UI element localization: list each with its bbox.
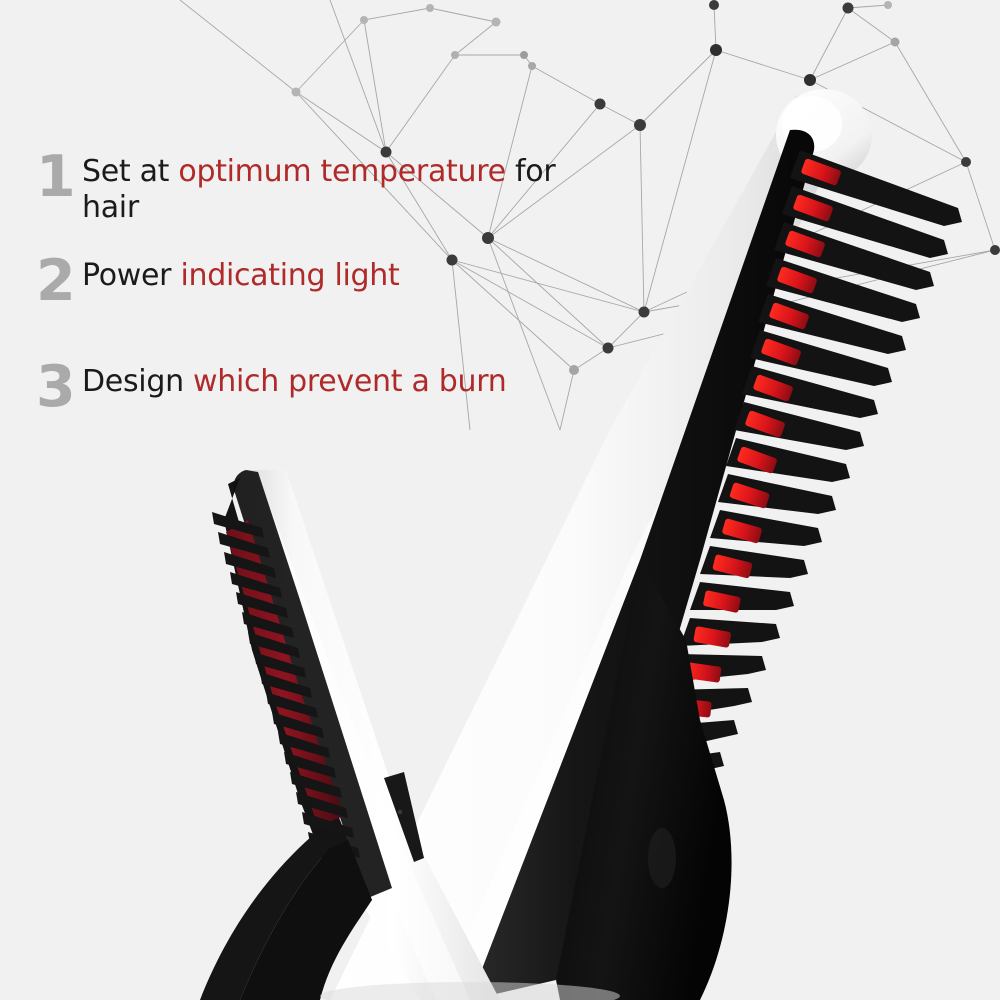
comb-tooth <box>626 784 710 826</box>
feature-text-1: Set at optimum temperature for hair <box>82 150 576 226</box>
feature-number-1: 1 <box>36 150 82 204</box>
comb-tooth <box>690 582 794 610</box>
lower-arm-white-body <box>234 470 500 1000</box>
feature-text-3: Design which prevent a burn <box>82 360 506 400</box>
comb-tooth <box>660 688 752 718</box>
lower-comb-red-heating-strip <box>226 520 344 826</box>
comb-tooth-heater <box>753 374 794 402</box>
comb-tooth-heater <box>761 338 802 366</box>
lower-comb-teeth-group <box>212 512 360 858</box>
feature-item-3: 3 Design which prevent a burn <box>36 360 576 414</box>
comb-tooth-heater <box>722 518 763 544</box>
comb-tooth <box>638 752 724 790</box>
comb-tooth <box>774 222 934 290</box>
comb-tooth <box>224 552 276 578</box>
feature-2-highlight: indicating light <box>180 258 399 293</box>
comb-tooth <box>782 186 948 258</box>
comb-tooth-heater <box>684 662 722 683</box>
comb-tooth <box>718 474 836 514</box>
comb-tooth <box>750 330 892 386</box>
comb-tooth-heater <box>777 266 818 294</box>
comb-tooth <box>766 258 920 322</box>
feature-text-2: Power indicating light <box>82 254 399 294</box>
infographic-canvas: 1 Set at optimum temperature for hair 2 … <box>0 0 1000 1000</box>
comb-tooth <box>290 772 342 798</box>
lower-comb-black-plate <box>224 470 392 922</box>
comb-tooth-heater <box>665 734 700 752</box>
comb-tooth <box>278 732 330 758</box>
comb-tooth <box>236 592 288 618</box>
comb-tooth <box>248 632 300 658</box>
comb-tooth-heater <box>729 482 770 509</box>
comb-tooth <box>670 654 766 682</box>
upper-comb-teeth-group <box>614 150 962 862</box>
comb-tooth-heater <box>785 230 826 258</box>
product-shadow <box>320 982 620 1000</box>
rounded-white-tip <box>776 89 872 181</box>
comb-tooth <box>650 720 738 754</box>
feature-2-plain-prefix: Power <box>82 258 180 293</box>
comb-tooth <box>614 816 696 862</box>
comb-tooth <box>790 150 962 226</box>
comb-tooth-heater <box>693 626 731 648</box>
comb-tooth-heater <box>703 590 742 613</box>
comb-tooth <box>272 712 324 738</box>
feature-item-2: 2 Power indicating light <box>36 254 576 308</box>
comb-tooth <box>212 512 264 538</box>
feature-1-highlight: optimum temperature <box>178 154 505 189</box>
comb-tooth <box>734 402 864 450</box>
comb-tooth <box>260 672 312 698</box>
comb-tooth <box>254 652 306 678</box>
feature-item-1: 1 Set at optimum temperature for hair <box>36 150 576 226</box>
comb-tooth <box>308 832 360 858</box>
comb-tooth-heater <box>653 770 686 786</box>
comb-tooth-heater <box>793 194 834 222</box>
comb-tooth <box>742 366 878 418</box>
comb-tooth <box>710 510 822 546</box>
feature-number-3: 3 <box>36 360 82 414</box>
comb-tooth <box>296 792 348 818</box>
feature-3-highlight: which prevent a burn <box>193 364 506 399</box>
comb-tooth <box>230 572 282 598</box>
comb-tooth-heater <box>642 806 672 820</box>
comb-tooth <box>266 692 318 718</box>
feature-number-2: 2 <box>36 254 82 308</box>
comb-tooth <box>242 612 294 638</box>
comb-tooth-heater <box>801 158 842 186</box>
comb-tooth <box>218 532 270 558</box>
hinge-pin <box>384 772 424 862</box>
black-handle-base-left <box>200 836 372 1000</box>
comb-tooth <box>700 546 808 578</box>
comb-tooth-heater <box>712 554 753 579</box>
comb-tooth-heater <box>745 410 786 438</box>
comb-tooth-heater <box>769 302 810 330</box>
comb-tooth <box>758 294 906 354</box>
comb-tooth <box>284 752 336 778</box>
feature-3-plain-prefix: Design <box>82 364 193 399</box>
feature-list: 1 Set at optimum temperature for hair 2 … <box>36 150 576 414</box>
comb-tooth <box>680 618 780 646</box>
comb-tooth-heater <box>674 698 711 718</box>
comb-tooth-heater <box>737 446 778 474</box>
black-handle-base-right <box>556 560 732 1000</box>
comb-tooth <box>726 438 850 482</box>
comb-tooth <box>302 812 354 838</box>
feature-1-plain-prefix: Set at <box>82 154 178 189</box>
